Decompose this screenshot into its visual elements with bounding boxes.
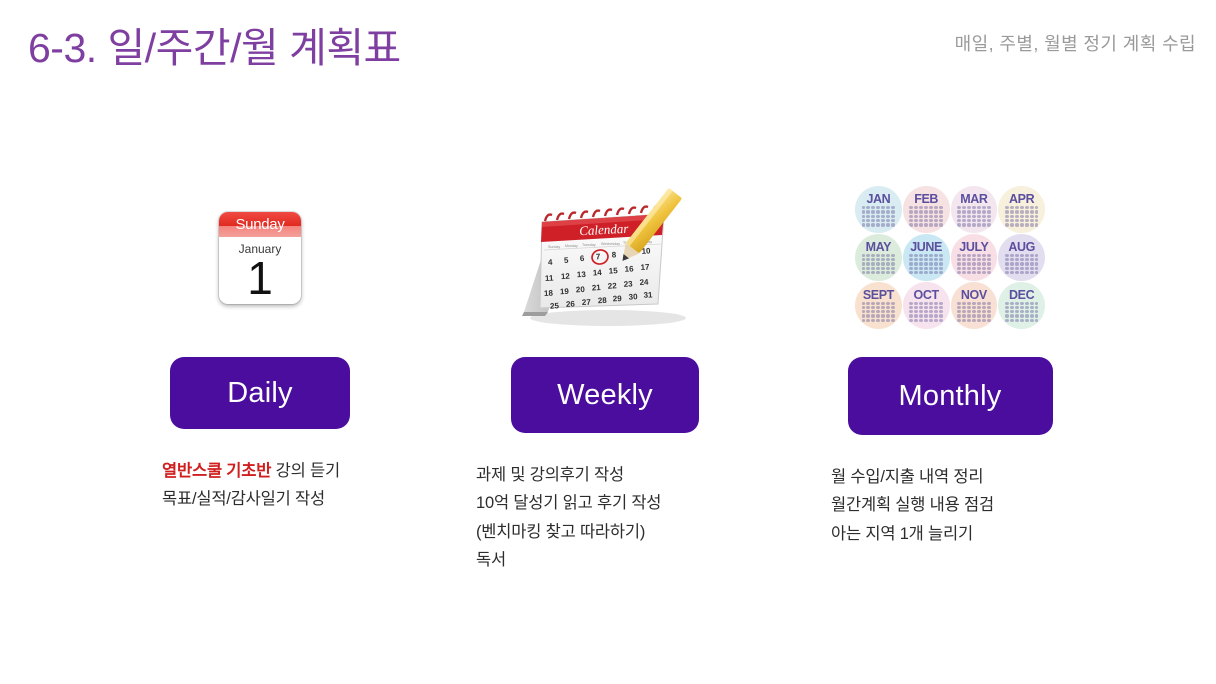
day-calendar-icon: Sunday January 1 [219, 212, 301, 304]
weekly-button[interactable]: Weekly [511, 357, 699, 433]
month-circle-label: JUNE [903, 240, 950, 254]
column-monthly: JANFEBMARAPRMAYJUNEJULYAUGSEPTOCTNOVDEC … [800, 170, 1100, 548]
month-circle-label: JAN [855, 192, 902, 206]
month-circle-nov: NOV [951, 282, 998, 329]
note-line: 목표/실적/감사일기 작성 [162, 485, 400, 513]
month-circle-daygrid [957, 302, 991, 323]
note-text: (벤치마킹 찾고 따라하기) [476, 523, 645, 541]
note-text: 목표/실적/감사일기 작성 [162, 490, 325, 508]
svg-text:Sunday: Sunday [548, 245, 560, 249]
note-line: 월간계획 실행 내용 점검 [831, 491, 1100, 519]
note-highlight: 열반스쿨 기초반 [162, 462, 271, 480]
monthly-button[interactable]: Monthly [848, 357, 1053, 435]
svg-text:23: 23 [623, 279, 633, 288]
month-circle-daygrid [909, 206, 943, 227]
month-circle-sept: SEPT [855, 282, 902, 329]
month-circle-label: AUG [998, 240, 1045, 254]
desk-calendar-with-pencil-icon: Calendar SundayMondayTuesday WednesdayTh… [512, 188, 698, 328]
svg-text:Tuesday: Tuesday [582, 243, 596, 247]
month-circle-label: DEC [998, 288, 1045, 302]
svg-text:25: 25 [550, 301, 560, 310]
month-circle-feb: FEB [903, 186, 950, 233]
note-text: 강의 듣기 [271, 462, 340, 480]
month-circle-label: MAR [951, 192, 998, 206]
desk-calendar-title: Calendar [579, 220, 630, 238]
notes-weekly: 과제 및 강의후기 작성 10억 달성기 읽고 후기 작성 (벤치마킹 찾고 따… [455, 461, 755, 575]
svg-text:24: 24 [639, 277, 649, 286]
month-circle-label: NOV [951, 288, 998, 302]
month-circle-daygrid [862, 302, 896, 323]
page-title: 6-3. 일/주간/월 계획표 [28, 14, 401, 74]
month-circle-daygrid [862, 254, 896, 275]
month-circle-aug: AUG [998, 234, 1045, 281]
svg-text:Monday: Monday [565, 244, 578, 248]
month-circle-label: FEB [903, 192, 950, 206]
month-circle-daygrid [1005, 254, 1039, 275]
svg-text:12: 12 [561, 271, 571, 280]
column-weekly: Calendar SundayMondayTuesday WednesdayTh… [455, 170, 755, 575]
day-calendar-weekday: Sunday [219, 212, 301, 237]
svg-text:31: 31 [643, 290, 653, 299]
month-circle-label: JULY [951, 240, 998, 254]
svg-text:11: 11 [545, 273, 554, 282]
month-circle-label: APR [998, 192, 1045, 206]
twelve-month-circles-icon: JANFEBMARAPRMAYJUNEJULYAUGSEPTOCTNOVDEC [855, 186, 1045, 328]
month-circle-daygrid [957, 206, 991, 227]
svg-text:16: 16 [624, 264, 634, 273]
svg-text:20: 20 [576, 284, 586, 293]
note-line: 10억 달성기 읽고 후기 작성 [476, 489, 755, 517]
month-circle-july: JULY [951, 234, 998, 281]
month-circle-daygrid [1005, 302, 1039, 323]
svg-text:29: 29 [613, 293, 623, 302]
month-circle-may: MAY [855, 234, 902, 281]
note-text: 월 수입/지출 내역 정리 [831, 468, 983, 486]
month-circle-daygrid [909, 302, 943, 323]
note-line: (벤치마킹 찾고 따라하기) [476, 518, 755, 546]
svg-text:18: 18 [544, 288, 554, 297]
note-text: 월간계획 실행 내용 점검 [831, 496, 994, 514]
svg-text:22: 22 [608, 281, 618, 290]
svg-text:27: 27 [582, 297, 592, 306]
daily-button[interactable]: Daily [170, 357, 350, 429]
month-circle-daygrid [862, 206, 896, 227]
note-text: 10억 달성기 읽고 후기 작성 [476, 494, 661, 512]
note-text: 과제 및 강의후기 작성 [476, 466, 624, 484]
svg-text:30: 30 [628, 292, 638, 301]
svg-text:26: 26 [566, 299, 576, 308]
note-text: 아는 지역 1개 늘리기 [831, 525, 973, 543]
notes-daily: 열반스쿨 기초반 강의 듣기 목표/실적/감사일기 작성 [120, 457, 400, 514]
note-line: 독서 [476, 546, 755, 574]
month-circle-daygrid [1005, 206, 1039, 227]
svg-text:19: 19 [560, 286, 570, 295]
page-subtitle: 매일, 주별, 월별 정기 계획 수립 [955, 30, 1196, 56]
note-line: 열반스쿨 기초반 강의 듣기 [162, 457, 400, 485]
month-circle-apr: APR [998, 186, 1045, 233]
notes-monthly: 월 수입/지출 내역 정리 월간계획 실행 내용 점검 아는 지역 1개 늘리기 [800, 463, 1100, 548]
month-circle-daygrid [957, 254, 991, 275]
month-circle-daygrid [909, 254, 943, 275]
month-circle-label: MAY [855, 240, 902, 254]
svg-text:13: 13 [577, 269, 587, 278]
svg-text:21: 21 [592, 283, 602, 292]
icon-zone-daily: Sunday January 1 [120, 170, 400, 345]
svg-text:17: 17 [640, 262, 650, 271]
icon-zone-monthly: JANFEBMARAPRMAYJUNEJULYAUGSEPTOCTNOVDEC [800, 170, 1100, 345]
day-calendar-daynumber: 1 [219, 255, 301, 301]
note-line: 월 수입/지출 내역 정리 [831, 463, 1100, 491]
month-circle-mar: MAR [951, 186, 998, 233]
month-circle-june: JUNE [903, 234, 950, 281]
svg-text:15: 15 [609, 266, 619, 275]
column-daily: Sunday January 1 Daily 열반스쿨 기초반 강의 듣기 목표… [120, 170, 400, 514]
svg-text:28: 28 [598, 295, 608, 304]
note-line: 과제 및 강의후기 작성 [476, 461, 755, 489]
note-text: 독서 [476, 551, 506, 569]
month-circle-label: OCT [903, 288, 950, 302]
svg-text:Wednesday: Wednesday [601, 242, 620, 246]
note-line: 아는 지역 1개 늘리기 [831, 520, 1100, 548]
month-circle-dec: DEC [998, 282, 1045, 329]
icon-zone-weekly: Calendar SundayMondayTuesday WednesdayTh… [455, 170, 755, 345]
svg-text:14: 14 [593, 267, 603, 276]
slide-canvas: 6-3. 일/주간/월 계획표 매일, 주별, 월별 정기 계획 수립 Sund… [0, 0, 1216, 684]
month-circle-oct: OCT [903, 282, 950, 329]
month-circle-label: SEPT [855, 288, 902, 302]
month-circle-jan: JAN [855, 186, 902, 233]
